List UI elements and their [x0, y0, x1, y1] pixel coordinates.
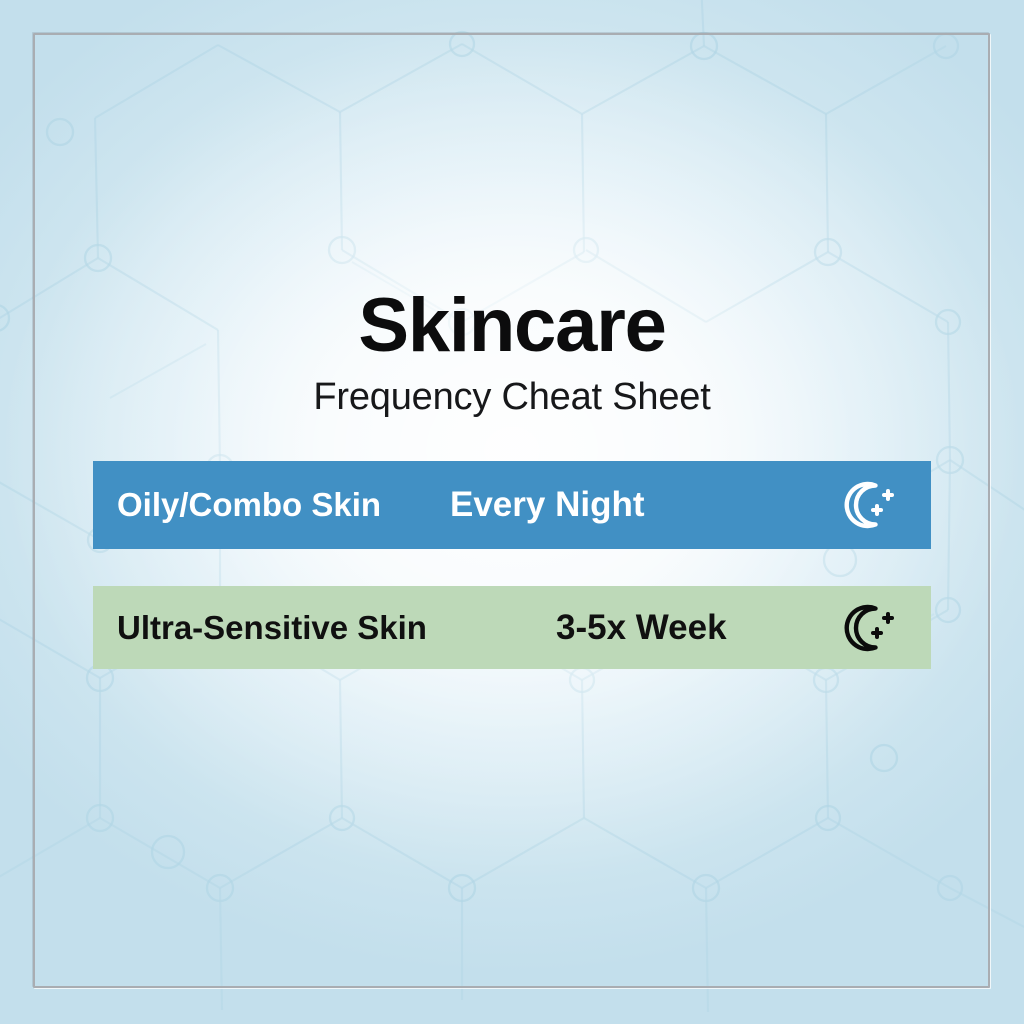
page-subtitle: Frequency Cheat Sheet [0, 378, 1024, 416]
row-frequency-value: Every Night [450, 485, 645, 525]
frequency-row-oily-combo[interactable]: Oily/Combo Skin Every Night [93, 461, 931, 549]
skincare-cheat-sheet-poster: Skincare Frequency Cheat Sheet Oily/Comb… [0, 0, 1024, 1024]
heading-block: Skincare Frequency Cheat Sheet [0, 288, 1024, 416]
page-title: Skincare [0, 288, 1024, 364]
row-skin-type-label: Oily/Combo Skin [117, 486, 381, 524]
row-skin-type-label: Ultra-Sensitive Skin [117, 609, 427, 647]
row-frequency-value: 3-5x Week [556, 608, 727, 648]
crescent-moon-sparkle-icon [841, 598, 901, 658]
crescent-moon-sparkle-icon [841, 475, 901, 535]
frequency-row-ultra-sensitive[interactable]: Ultra-Sensitive Skin 3-5x Week [93, 586, 931, 669]
